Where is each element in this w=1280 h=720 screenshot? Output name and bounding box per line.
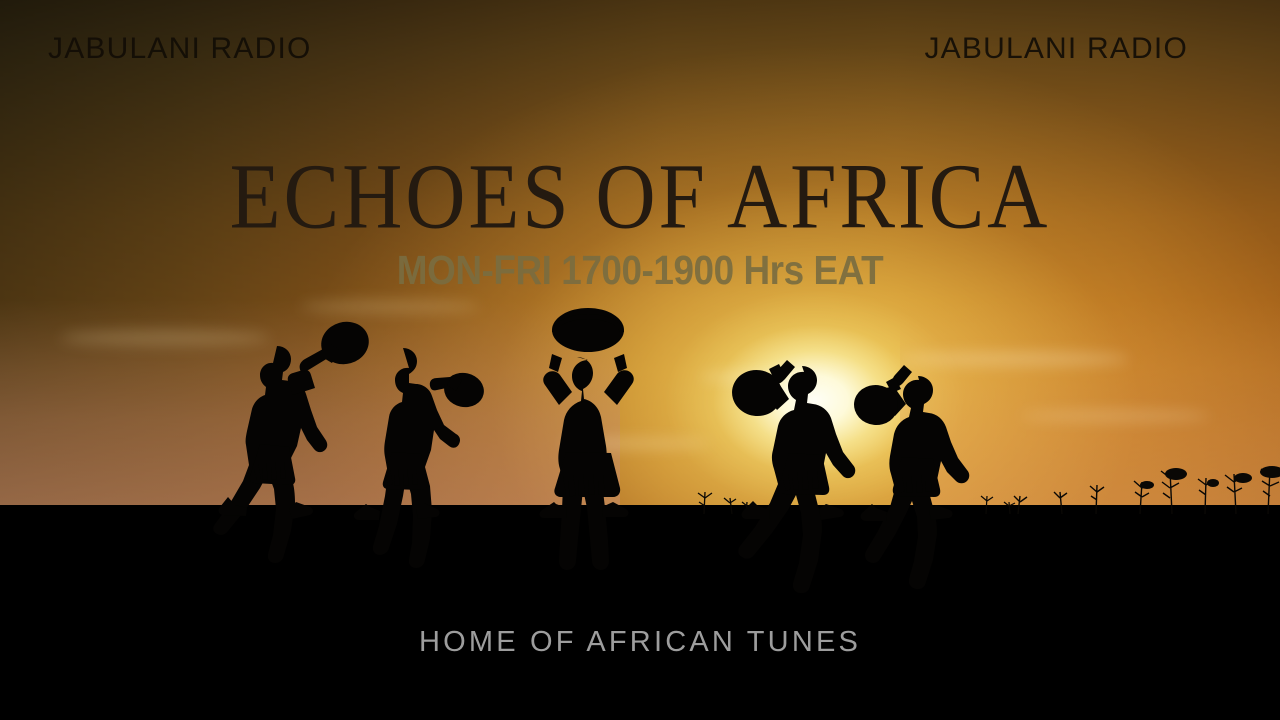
poster-canvas: JABULANI RADIO JABULANI RADIO ECHOES OF … (0, 0, 1280, 720)
brand-logo-right: JABULANI RADIO (924, 32, 1188, 66)
broadcast-schedule: MON-FRI 1700-1900 Hrs EAT (64, 247, 1216, 294)
bush-icon (688, 478, 758, 518)
bush-icon (1000, 452, 1280, 522)
brand-logo-left: JABULANI RADIO (48, 32, 312, 66)
show-title: ECHOES OF AFRICA (19, 142, 1261, 250)
tagline: HOME OF AFRICAN TUNES (0, 626, 1280, 659)
bush-icon (972, 484, 1024, 518)
ground-plane (0, 505, 1280, 720)
